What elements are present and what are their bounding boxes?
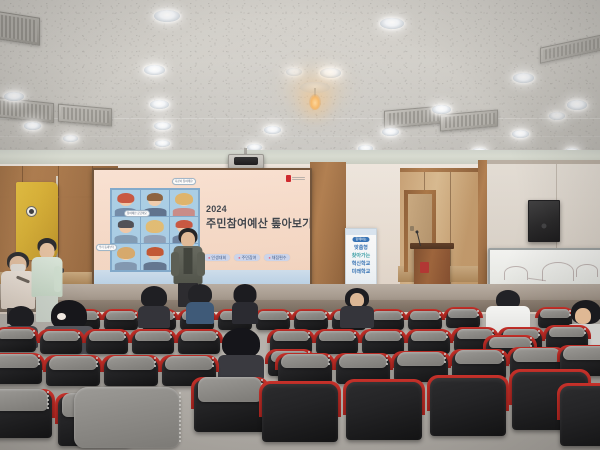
person-head <box>575 308 591 324</box>
podium-top <box>410 243 454 249</box>
wall-speaker <box>528 200 560 242</box>
pill-dot-icon: ● <box>238 255 240 260</box>
hair-scrunchie <box>57 313 66 320</box>
seat-headrest <box>0 389 48 411</box>
seat-headrest <box>181 331 218 342</box>
seat-headrest <box>411 331 448 342</box>
seat-headrest <box>165 356 213 369</box>
pendant-bulb <box>309 94 321 110</box>
auditorium-seat[interactable] <box>294 312 328 330</box>
door-handle[interactable] <box>410 226 414 231</box>
ceiling-downlight <box>513 73 534 83</box>
seat-headrest <box>198 377 261 402</box>
seat-headrest <box>319 331 356 342</box>
auditorium-seat[interactable] <box>0 392 52 438</box>
ceiling-downlight <box>150 100 169 109</box>
ceiling-downlight <box>63 135 78 142</box>
seat-headrest <box>296 311 326 320</box>
flag-emblem-icon <box>26 206 37 217</box>
ceiling-downlight <box>24 122 41 130</box>
slide-pill: ●채점편수 <box>264 254 290 261</box>
wood-panel-mid <box>310 162 346 290</box>
face-hair <box>117 247 135 259</box>
person-torso <box>340 306 374 328</box>
ceiling-downlight <box>320 68 341 78</box>
seat-headrest <box>49 356 97 369</box>
auditorium-seat[interactable] <box>0 356 42 384</box>
seat-headrest <box>372 311 402 320</box>
banner-top-band <box>346 229 376 235</box>
person-hair <box>8 306 34 328</box>
face-body <box>115 235 138 243</box>
slide-logo <box>286 175 306 182</box>
face-hair <box>117 193 134 203</box>
face-cell <box>141 217 169 243</box>
auditorium-seat[interactable] <box>40 332 82 354</box>
audience-member <box>186 284 214 322</box>
auditorium-seat[interactable] <box>104 312 138 330</box>
seat-headrest <box>0 329 34 340</box>
person-torso <box>186 302 214 324</box>
banner-line-1: 맞춤형 <box>354 246 368 251</box>
seat-headrest <box>410 311 440 320</box>
ceiling-downlight <box>286 68 302 76</box>
banner-badge: 함께하는 <box>352 237 369 242</box>
person-torso <box>138 306 170 328</box>
seat-headrest <box>107 356 155 369</box>
ceiling-downlight <box>512 130 529 138</box>
face-hair <box>147 247 164 256</box>
auditorium-seat[interactable] <box>262 384 338 442</box>
seat-headrest <box>43 331 80 342</box>
banner-line-3: 혁신학교 <box>352 262 370 267</box>
seat-headrest <box>455 350 503 363</box>
slide-pill-row: ●인생대회 ●주민참여 ●채점편수 <box>204 254 290 261</box>
auditorium-seat[interactable] <box>104 358 158 386</box>
projector <box>228 154 264 169</box>
ceiling-downlight <box>154 122 171 130</box>
slide-pill: ●주민참여 <box>234 254 260 261</box>
seat-headrest <box>273 331 310 342</box>
person-torso <box>232 302 258 324</box>
presenter-head <box>181 232 195 247</box>
auditorium-seat[interactable] <box>278 356 332 384</box>
auditorium-seat[interactable] <box>446 310 480 328</box>
person-torso <box>218 355 264 379</box>
seat-headrest <box>135 331 172 342</box>
pill-dot-icon: ● <box>268 255 270 260</box>
face-hair <box>118 220 134 228</box>
ceiling-seam <box>0 136 600 137</box>
face-cell <box>141 244 169 270</box>
org-logo-wordmark <box>292 177 305 181</box>
ceiling-downlight <box>567 100 587 110</box>
seat-headrest <box>563 346 600 359</box>
banner-line-2: 찾아가는 <box>352 254 370 259</box>
podium-crest <box>420 262 429 273</box>
speech-bubble: 우리 동네부터 <box>96 244 117 251</box>
face-body <box>115 262 137 270</box>
speech-bubble: 참여예산 궁금해요 <box>124 210 150 217</box>
auditorium-seat[interactable] <box>86 332 128 354</box>
seat-back <box>262 384 338 442</box>
seat-headrest <box>281 354 329 367</box>
banner-line-4: 미래학교 <box>352 270 370 275</box>
auditorium-seat[interactable] <box>408 312 442 330</box>
org-logo-icon <box>286 175 291 182</box>
face-hair <box>176 220 193 228</box>
wood-pillar <box>478 160 487 288</box>
slide-pill: ●인생대회 <box>204 254 230 261</box>
right-wall-trim <box>487 160 600 164</box>
person-hair <box>234 284 257 304</box>
ceiling-downlight <box>155 140 170 147</box>
seat-headrest <box>74 387 180 448</box>
seat-back <box>346 382 422 440</box>
face-hair <box>146 220 164 232</box>
audience-member-center <box>218 328 264 378</box>
seat-headrest <box>0 354 39 367</box>
whiteboard-drawing <box>504 266 528 280</box>
slide-headline: 주민참여예산 톺아보기 <box>206 218 310 232</box>
seat-headrest <box>513 348 561 361</box>
face-body <box>144 235 166 243</box>
person-hair <box>141 286 167 308</box>
slide-year: 2024 <box>206 204 227 215</box>
seat-back <box>430 378 506 436</box>
ceiling-downlight <box>144 65 165 75</box>
seat-back <box>560 386 600 446</box>
seat-headrest <box>339 354 387 367</box>
ceiling-downlight <box>154 10 180 22</box>
auditorium-seat[interactable] <box>0 330 36 352</box>
whiteboard-drawing <box>576 264 598 277</box>
seat-headrest <box>397 352 445 365</box>
ceiling-downlight <box>380 18 404 29</box>
speech-bubble: 다같이 참여해요! <box>172 178 196 185</box>
seat-headrest <box>448 309 478 318</box>
auditorium-seat[interactable] <box>178 332 220 354</box>
audience-member <box>340 288 374 326</box>
ceiling-downlight <box>382 128 399 136</box>
person-arm <box>54 266 61 292</box>
audience-member <box>232 284 258 322</box>
ceiling-downlight <box>432 105 451 114</box>
auditorium-seat[interactable] <box>430 378 506 436</box>
person-hair <box>188 284 212 304</box>
face-body <box>144 262 167 270</box>
auditorium-seat[interactable] <box>370 312 404 330</box>
seat-headrest <box>89 331 126 342</box>
ceiling-downlight <box>4 92 24 101</box>
audience-member <box>138 286 170 326</box>
presenter-arm-left <box>171 252 179 276</box>
seat-headrest <box>258 311 288 320</box>
photo-scene: 다같이 참여해요! 참여예산 궁금해요 우리 동네부터 2024 주민참여예산 … <box>0 0 600 450</box>
presenter-inner-top <box>184 248 193 274</box>
auditorium-seat[interactable] <box>346 382 422 440</box>
presenter-arm-right <box>197 252 205 276</box>
seat-headrest <box>549 327 586 338</box>
auditorium-seat[interactable] <box>132 332 174 354</box>
ceiling-downlight <box>549 112 565 120</box>
seat-headrest <box>365 331 402 342</box>
face-hair <box>175 193 193 205</box>
auditorium-seat-front[interactable] <box>72 388 182 450</box>
ceiling <box>0 0 600 150</box>
face-cell <box>112 217 140 243</box>
face-body <box>173 208 195 216</box>
person-head <box>350 293 364 307</box>
ceiling-downlight <box>264 126 281 134</box>
auditorium-seat[interactable] <box>46 358 100 386</box>
auditorium-seat[interactable] <box>316 332 358 354</box>
wood-header <box>400 168 478 172</box>
auditorium-seat[interactable] <box>560 386 600 446</box>
face-hair <box>147 193 163 201</box>
seat-headrest <box>106 311 136 320</box>
auditorium-seat[interactable] <box>194 380 266 432</box>
person-hair <box>222 328 260 358</box>
whiteboard-drawing <box>542 262 574 281</box>
face-cell <box>170 190 198 216</box>
